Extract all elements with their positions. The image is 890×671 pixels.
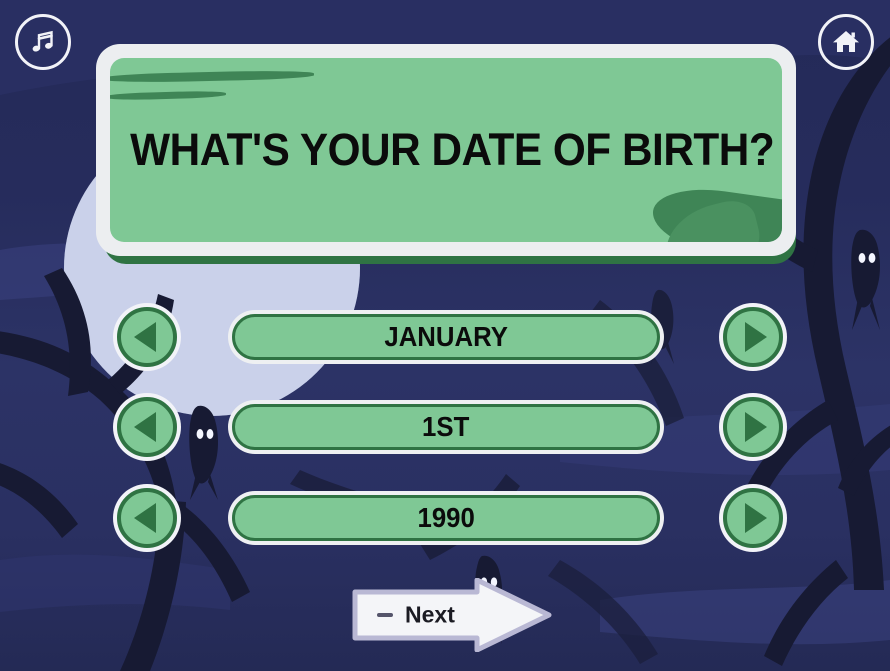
selector-row-year: 1990 — [0, 487, 890, 549]
chevron-left-icon — [134, 322, 156, 352]
month-prev-button[interactable] — [117, 307, 177, 367]
chevron-right-icon — [745, 503, 767, 533]
month-value-inner: JANUARY — [232, 314, 660, 360]
home-button[interactable] — [818, 14, 874, 70]
decor-streak — [110, 90, 226, 100]
year-value-pill[interactable]: 1990 — [228, 491, 664, 545]
banner-frame: WHAT'S YOUR DATE OF BIRTH? — [96, 44, 796, 256]
selector-row-month: JANUARY — [0, 306, 890, 368]
music-toggle-button[interactable] — [15, 14, 71, 70]
day-value-text: 1ST — [422, 411, 469, 443]
chevron-left-icon — [134, 503, 156, 533]
next-button[interactable]: Next — [345, 578, 555, 652]
next-button-label: Next — [405, 602, 455, 629]
next-dash-decor — [377, 613, 393, 617]
day-value-inner: 1ST — [232, 404, 660, 450]
month-value-text: JANUARY — [384, 321, 508, 353]
game-screen: WHAT'S YOUR DATE OF BIRTH? JANUARY 1ST — [0, 0, 890, 671]
banner-inner: WHAT'S YOUR DATE OF BIRTH? — [110, 58, 782, 242]
home-icon — [830, 26, 862, 58]
day-value-pill[interactable]: 1ST — [228, 400, 664, 454]
day-prev-button[interactable] — [117, 397, 177, 457]
year-value-inner: 1990 — [232, 495, 660, 541]
music-note-icon — [28, 27, 58, 57]
year-next-button[interactable] — [723, 488, 783, 548]
question-text: WHAT'S YOUR DATE OF BIRTH? — [130, 124, 762, 176]
year-value-text: 1990 — [417, 502, 474, 534]
question-banner: WHAT'S YOUR DATE OF BIRTH? — [96, 44, 796, 264]
month-value-pill[interactable]: JANUARY — [228, 310, 664, 364]
day-next-button[interactable] — [723, 397, 783, 457]
chevron-right-icon — [745, 322, 767, 352]
selector-row-day: 1ST — [0, 396, 890, 458]
decor-streak — [110, 70, 314, 83]
chevron-right-icon — [745, 412, 767, 442]
month-next-button[interactable] — [723, 307, 783, 367]
chevron-left-icon — [134, 412, 156, 442]
year-prev-button[interactable] — [117, 488, 177, 548]
